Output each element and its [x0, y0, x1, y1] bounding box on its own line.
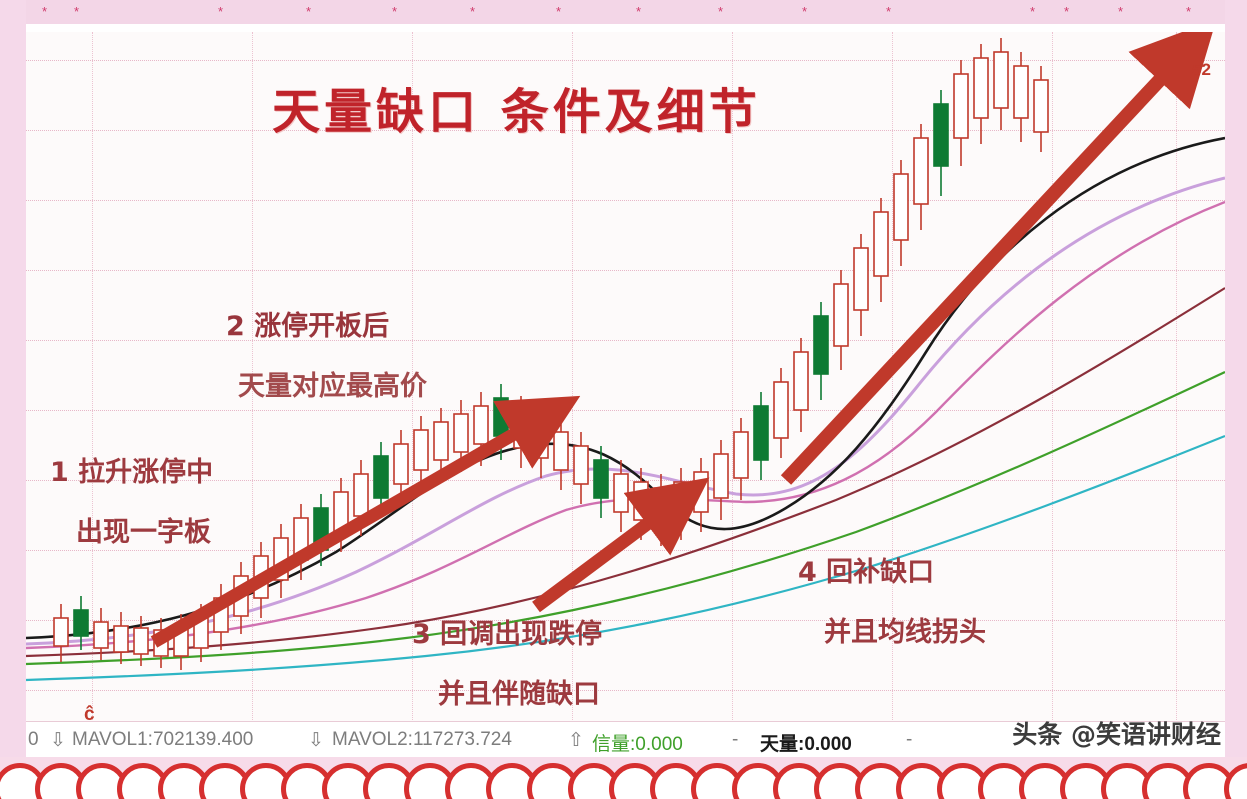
top-tick: *	[392, 4, 397, 19]
top-tick: *	[718, 4, 723, 19]
top-tick: *	[470, 4, 475, 19]
annotation-arrows	[154, 54, 1184, 642]
screenshot-root: 天量缺口 条件及细节 1 拉升涨停中 出现一字板 2 涨停开板后 天量对应最高价…	[0, 0, 1247, 799]
top-tick: *	[556, 4, 561, 19]
top-tick: *	[1186, 4, 1191, 19]
top-tick: *	[886, 4, 891, 19]
top-tick: *	[1030, 4, 1035, 19]
wave-scallop	[1224, 763, 1247, 799]
decorative-right-border	[1225, 0, 1247, 799]
tianliang-dash: -	[906, 729, 912, 751]
tianliang-label: 天量:0.000	[760, 729, 852, 756]
top-tick: *	[636, 4, 641, 19]
annotation-3-line-2: 并且伴随缺口	[438, 672, 600, 711]
mavol2-arrow-icon: ⇧	[568, 729, 584, 752]
price-label-top: 52	[1192, 60, 1211, 80]
top-tick: *	[1118, 4, 1123, 19]
watermark: 头条 @笑语讲财经	[1012, 715, 1221, 751]
top-tick: *	[1064, 4, 1069, 19]
top-tick-row: * * * * * * * * * * * * * * *	[0, 0, 1247, 30]
annotation-1-line-1: 1 拉升涨停中	[50, 450, 213, 489]
top-tick: *	[218, 4, 223, 19]
annotation-2-line-2: 天量对应最高价	[238, 364, 427, 403]
indicator-left-value: 0	[28, 729, 39, 751]
xinliang-dash: -	[732, 729, 738, 751]
ma-line-magenta	[26, 202, 1225, 648]
mavol1-arrow-icon: ⇩	[308, 729, 324, 752]
volume-down-icon: ⇩	[50, 729, 66, 752]
page-title: 天量缺口 条件及细节	[272, 72, 761, 142]
mavol1-label: MAVOL1:702139.400	[72, 729, 253, 751]
mavol2-label: MAVOL2:117273.724	[332, 729, 512, 751]
annotation-1-line-2: 出现一字板	[76, 510, 211, 549]
top-tick: *	[802, 4, 807, 19]
top-tick: *	[42, 4, 47, 19]
annotation-3-line-1: 3 回调出现跌停	[412, 612, 602, 651]
annotation-4-line-1: 4 回补缺口	[798, 550, 934, 589]
xinliang-label: 信量:0.000	[592, 729, 683, 756]
top-tick: *	[306, 4, 311, 19]
stock-chart-panel[interactable]: 天量缺口 条件及细节 1 拉升涨停中 出现一字板 2 涨停开板后 天量对应最高价…	[26, 32, 1225, 758]
top-tick: *	[74, 4, 79, 19]
ma-line-black	[26, 138, 1225, 638]
annotation-2-line-1: 2 涨停开板后	[226, 304, 389, 343]
decorative-wave-row	[0, 757, 1247, 799]
annotation-4-line-2: 并且均线拐头	[824, 610, 986, 649]
decorative-left-border	[0, 0, 26, 799]
